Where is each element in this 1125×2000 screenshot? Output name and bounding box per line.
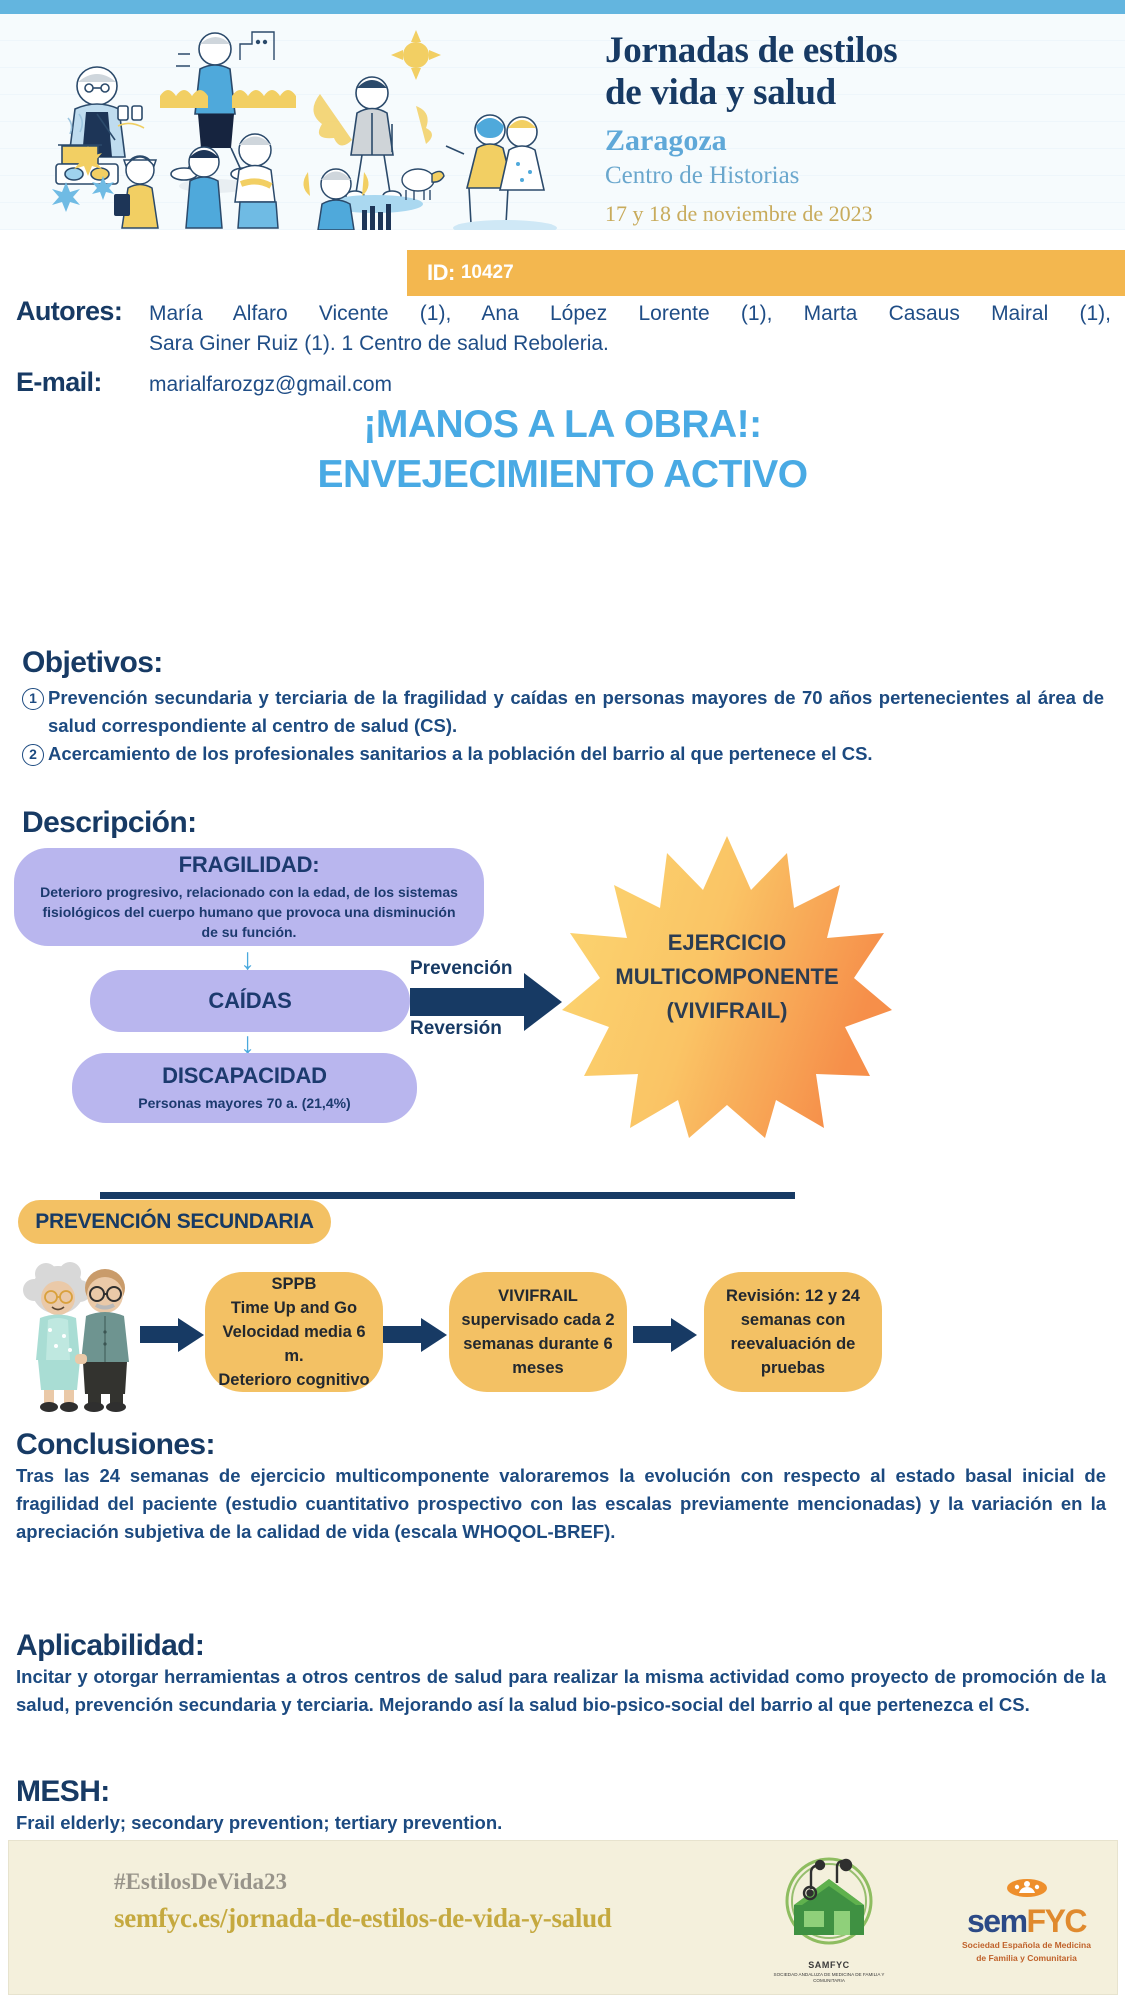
semfyc-logo: semFYC Sociedad Española de Medicina de … <box>939 1877 1114 1964</box>
arrow-label-reversion: Reversión <box>410 1018 502 1040</box>
page-title: ¡MANOS A LA OBRA!: ENVEJECIMIENTO ACTIVO <box>0 400 1125 500</box>
conclusiones-section: Conclusiones: Tras las 24 semanas de eje… <box>16 1428 1106 1546</box>
semfyc-wordmark: semFYC <box>939 1904 1114 1938</box>
diagram-node-fragilidad: FRAGILIDAD: Deterioro progresivo, relaci… <box>14 848 484 946</box>
flow-step-1-line-2: Time Up and Go <box>231 1296 357 1320</box>
diagram-node-caidas: CAÍDAS <box>90 970 410 1032</box>
fragilidad-subtitle: Deterioro progresivo, relacionado con la… <box>34 882 464 942</box>
objetivo-number-1: 1 <box>22 688 44 710</box>
flow-step-3-line-1: Revisión: 12 y 24 <box>726 1284 860 1308</box>
mesh-section: MESH: Frail elderly; secondary preventio… <box>16 1775 1106 1837</box>
authors-line-1: María Alfaro Vicente (1), Ana López Lore… <box>149 299 1111 329</box>
flow-step-3-line-2: semanas con <box>741 1308 846 1332</box>
descripcion-diagram: FRAGILIDAD: Deterioro progresivo, relaci… <box>0 848 1125 1188</box>
email-row: E-mail: marialfarozgz@gmail.com <box>16 367 1111 400</box>
section-divider-rule <box>100 1192 795 1199</box>
samfyc-logo: SAMFYC SOCIEDAD ANDALUZA DE MEDICINA DE … <box>769 1853 889 1988</box>
flow-step-3-line-3: reevaluación de <box>731 1332 856 1356</box>
mesh-text: Frail elderly; secondary prevention; ter… <box>16 1809 1106 1837</box>
flow-step-2-line-3: semanas durante 6 <box>463 1332 612 1356</box>
id-value: 10427 <box>461 262 514 284</box>
caidas-title: CAÍDAS <box>208 988 291 1014</box>
samfyc-house-stethoscope-icon <box>774 1853 884 1953</box>
flow-step-2-line-1: VIVIFRAIL <box>498 1284 578 1308</box>
email-value[interactable]: marialfarozgz@gmail.com <box>141 370 1111 400</box>
flow-step-1-line-1: SPPB <box>272 1272 317 1296</box>
arrow-right-icon-3 <box>671 1318 697 1352</box>
prevencion-reversion-arrow: Prevención Reversión <box>410 966 570 1044</box>
semfyc-sem: sem <box>967 1903 1027 1939</box>
arrow-right-icon-2 <box>421 1318 447 1352</box>
mesh-heading: MESH: <box>16 1775 1106 1809</box>
arrow-right-shaft <box>410 988 528 1016</box>
discapacidad-title: DISCAPACIDAD <box>162 1063 327 1089</box>
flow-step-3: Revisión: 12 y 24 semanas con reevaluaci… <box>704 1272 882 1392</box>
banner-title-line2: de vida y salud <box>605 72 1105 114</box>
event-banner: Jornadas de estilos de vida y salud Zara… <box>0 0 1125 230</box>
flow-step-2: VIVIFRAIL supervisado cada 2 semanas dur… <box>449 1272 627 1392</box>
flow-step-1-line-3: Velocidad media 6 m. <box>215 1320 373 1368</box>
banner-title-line1: Jornadas de estilos <box>605 30 1105 72</box>
objetivo-number-2: 2 <box>22 744 44 766</box>
page-title-line1: ¡MANOS A LA OBRA!: <box>363 403 761 446</box>
semfyc-subtitle-line1: Sociedad Española de Medicina <box>939 1940 1114 1951</box>
flow-step-1-line-4: Deterioro cognitivo <box>218 1368 369 1392</box>
flow-arrow-3 <box>633 1318 703 1348</box>
arrow-right-icon <box>524 973 562 1031</box>
authors-label: Autores: <box>16 296 149 327</box>
aplicabilidad-section: Aplicabilidad: Incitar y otorgar herrami… <box>16 1629 1106 1719</box>
banner-date: 17 y 18 de noviembre de 2023 <box>605 199 1105 229</box>
flow-step-3-line-4: pruebas <box>761 1356 825 1380</box>
objetivo-item-1: 1 Prevención secundaria y terciaria de l… <box>22 684 1104 740</box>
flow-arrow-2 <box>383 1318 447 1348</box>
objetivo-item-2: 2 Acercamiento de los profesionales sani… <box>22 740 1104 768</box>
flow-arrow-shaft-3 <box>633 1326 675 1343</box>
objetivo-text-1: Prevención secundaria y terciaria de la … <box>48 684 1104 740</box>
objetivos-section: Objetivos: 1 Prevención secundaria y ter… <box>22 646 1104 768</box>
semfyc-fyc: FYC <box>1027 1903 1087 1939</box>
elderly-couple-icon <box>20 1258 145 1413</box>
footer-hashtag: #EstilosDeVida23 <box>114 1869 287 1895</box>
semfyc-subtitle-line2: de Familia y Comunitaria <box>939 1953 1114 1964</box>
discapacidad-subtitle: Personas mayores 70 a. (21,4%) <box>138 1093 350 1113</box>
diagram-node-discapacidad: DISCAPACIDAD Personas mayores 70 a. (21,… <box>72 1053 417 1123</box>
banner-heading-block: Jornadas de estilos de vida y salud Zara… <box>605 30 1105 229</box>
id-label: ID: <box>427 260 455 286</box>
flow-step-2-line-2: supervisado cada 2 <box>461 1308 614 1332</box>
authors-block: Autores: María Alfaro Vicente (1), Ana L… <box>16 296 1111 400</box>
id-badge: ID: 10427 <box>407 250 1125 296</box>
starburst-line3: (VIVIFRAIL) <box>562 994 892 1028</box>
prevencion-flow-diagram: SPPB Time Up and Go Velocidad media 6 m.… <box>0 1258 1125 1418</box>
descripcion-heading: Descripción: <box>22 806 197 840</box>
prevencion-secundaria-badge: PREVENCIÓN SECUNDARIA <box>18 1200 331 1244</box>
banner-venue: Centro de Historias <box>605 160 1105 191</box>
arrow-right-icon-1 <box>178 1318 204 1352</box>
email-label: E-mail: <box>16 367 141 398</box>
semfyc-mark-icon <box>1006 1877 1048 1899</box>
samfyc-name: SAMFYC <box>769 1960 889 1970</box>
conclusiones-heading: Conclusiones: <box>16 1428 1106 1462</box>
flow-arrow-shaft-1 <box>140 1326 182 1343</box>
fragilidad-title: FRAGILIDAD: <box>179 852 320 878</box>
arrow-label-prevencion: Prevención <box>410 958 512 980</box>
aplicabilidad-text: Incitar y otorgar herramientas a otros c… <box>16 1663 1106 1719</box>
footer-bar: #EstilosDeVida23 semfyc.es/jornada-de-es… <box>8 1840 1118 1995</box>
objetivo-text-2: Acercamiento de los profesionales sanita… <box>48 740 1104 768</box>
page-title-line2: ENVEJECIMIENTO ACTIVO <box>0 450 1125 500</box>
starburst-line1: EJERCICIO <box>562 926 892 960</box>
flow-step-2-line-4: meses <box>512 1356 563 1380</box>
banner-city: Zaragoza <box>605 122 1105 160</box>
authors-line-2: Sara Giner Ruiz (1). 1 Centro de salud R… <box>16 329 1111 359</box>
flow-arrow-shaft-2 <box>383 1326 425 1343</box>
flow-arrow-1 <box>140 1318 204 1348</box>
authors-row: Autores: María Alfaro Vicente (1), Ana L… <box>16 296 1111 329</box>
conclusiones-text: Tras las 24 semanas de ejercicio multico… <box>16 1462 1106 1546</box>
samfyc-subtitle: SOCIEDAD ANDALUZA DE MEDICINA DE FAMILIA… <box>769 1972 889 1984</box>
aplicabilidad-heading: Aplicabilidad: <box>16 1629 1106 1663</box>
poster-root: Jornadas de estilos de vida y salud Zara… <box>0 0 1125 2000</box>
banner-top-bar <box>0 0 1125 14</box>
flow-step-1: SPPB Time Up and Go Velocidad media 6 m.… <box>205 1272 383 1392</box>
starburst-label: EJERCICIO MULTICOMPONENTE (VIVIFRAIL) <box>562 926 892 1028</box>
footer-url[interactable]: semfyc.es/jornada-de-estilos-de-vida-y-s… <box>114 1903 612 1934</box>
starburst-line2: MULTICOMPONENTE <box>562 960 892 994</box>
objetivos-heading: Objetivos: <box>22 646 1104 680</box>
